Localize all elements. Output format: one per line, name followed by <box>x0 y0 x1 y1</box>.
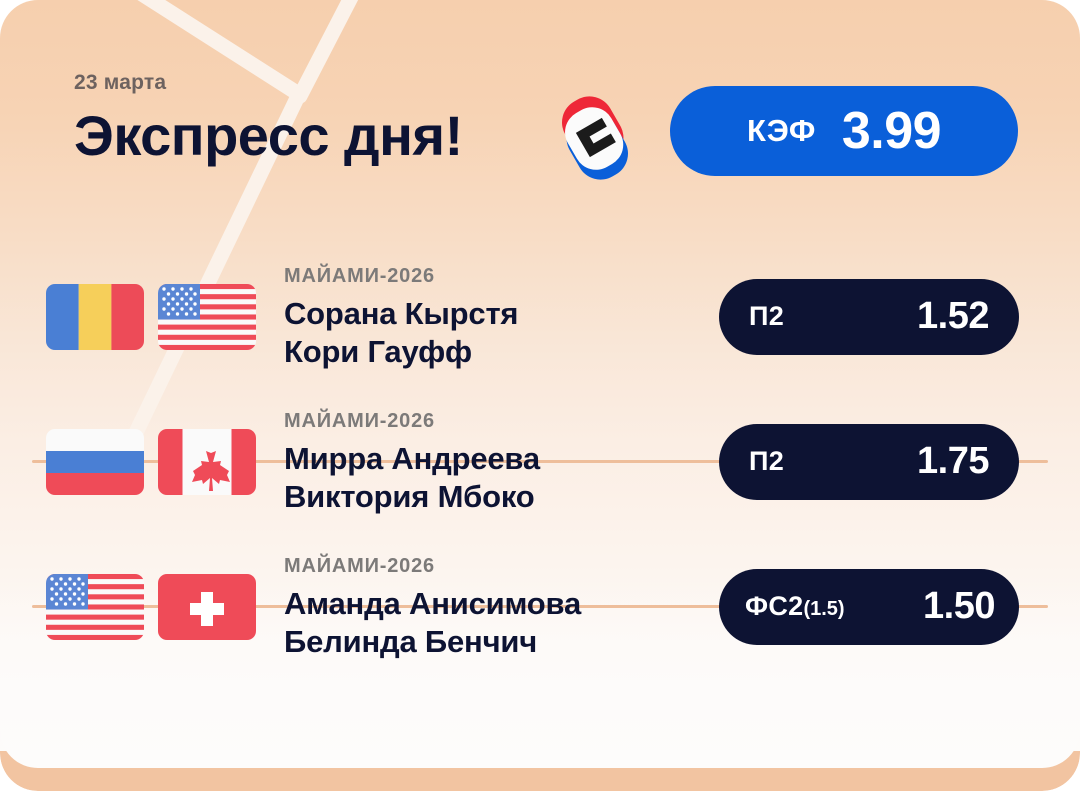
match-list: МАЙАМИ-2026 Сорана Кырстя Кори Гауфф П2 … <box>0 244 1080 679</box>
match-info: МАЙАМИ-2026 Сорана Кырстя Кори Гауфф <box>284 266 518 371</box>
card-header: 23 марта Экспресс дня! КЭФ 3.99 <box>74 72 1014 182</box>
tournament-label: МАЙАМИ-2026 <box>284 556 581 576</box>
coefficient-value: 3.99 <box>842 101 941 161</box>
canada-flag <box>158 429 256 495</box>
match-row[interactable]: МАЙАМИ-2026 Мирра Андреева Виктория Мбок… <box>0 389 1080 534</box>
flag-pair <box>46 284 256 350</box>
bet-badge[interactable]: ФС2(1.5) 1.50 <box>719 569 1019 645</box>
match-row[interactable]: МАЙАМИ-2026 Аманда Анисимова Белинда Бен… <box>0 534 1080 679</box>
flag-pair <box>46 574 256 640</box>
player-one-name: Мирра Андреева <box>284 440 540 478</box>
flag-pair <box>46 429 256 495</box>
tournament-label: МАЙАМИ-2026 <box>284 266 518 286</box>
bottom-accent-strip <box>0 751 1080 791</box>
player-two-name: Виктория Мбоко <box>284 478 540 516</box>
bet-market-label: П2 <box>749 446 784 477</box>
tournament-label: МАЙАМИ-2026 <box>284 411 540 431</box>
bet-odds-value: 1.50 <box>923 585 995 628</box>
player-two-name: Белинда Бенчич <box>284 623 581 661</box>
switzerland-flag <box>158 574 256 640</box>
usa-flag <box>46 574 144 640</box>
coefficient-badge[interactable]: КЭФ 3.99 <box>670 86 1018 176</box>
bet-market-code: ФС2 <box>745 591 803 621</box>
bet-badge[interactable]: П2 1.52 <box>719 279 1019 355</box>
promo-card: 23 марта Экспресс дня! КЭФ 3.99 <box>0 0 1080 791</box>
player-one-name: Аманда Анисимова <box>284 585 581 623</box>
bet-odds-value: 1.52 <box>917 295 989 338</box>
coefficient-label: КЭФ <box>747 113 816 149</box>
russia-flag <box>46 429 144 495</box>
player-two-name: Кори Гауфф <box>284 333 518 371</box>
bet-market-label: П2 <box>749 301 784 332</box>
match-row[interactable]: МАЙАМИ-2026 Сорана Кырстя Кори Гауфф П2 … <box>0 244 1080 389</box>
usa-flag <box>158 284 256 350</box>
romania-flag <box>46 284 144 350</box>
match-info: МАЙАМИ-2026 Мирра Андреева Виктория Мбок… <box>284 411 540 516</box>
player-one-name: Сорана Кырстя <box>284 295 518 333</box>
bet-badge[interactable]: П2 1.75 <box>719 424 1019 500</box>
bet-odds-value: 1.75 <box>917 440 989 483</box>
match-info: МАЙАМИ-2026 Аманда Анисимова Белинда Бен… <box>284 556 581 661</box>
bet-handicap: (1.5) <box>803 598 844 620</box>
brand-logo <box>547 90 643 186</box>
bet-market-label: ФС2(1.5) <box>745 591 845 622</box>
